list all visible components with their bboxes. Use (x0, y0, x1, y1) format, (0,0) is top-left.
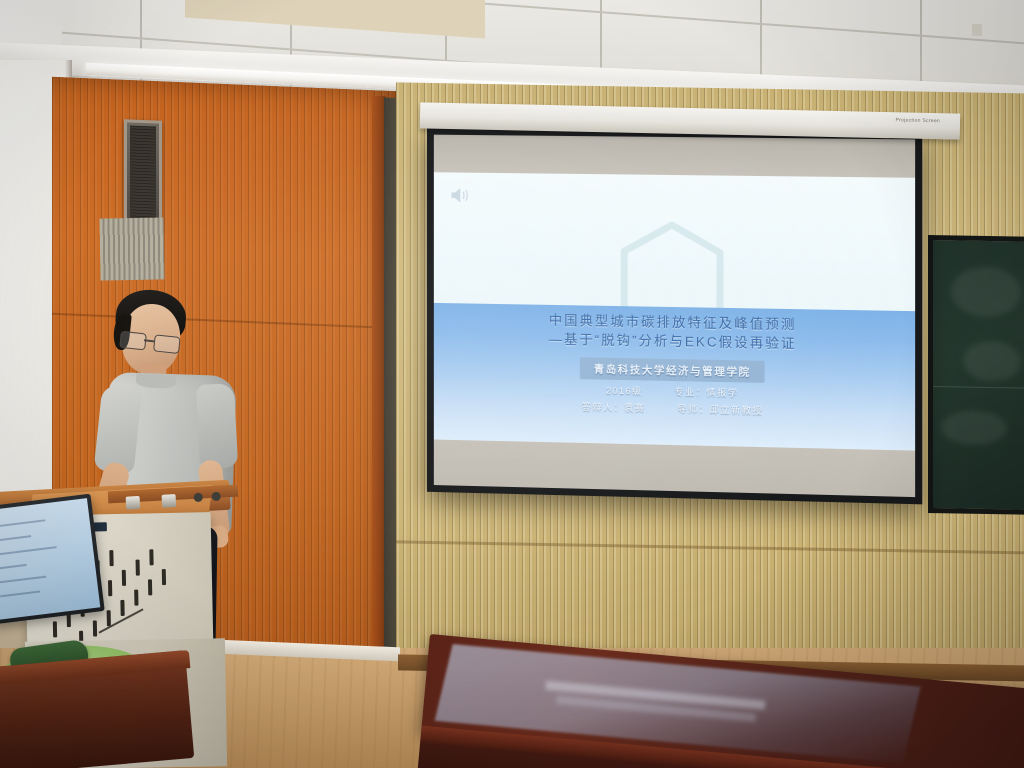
screen-mount-bracket (972, 24, 982, 36)
monitor-display[interactable] (0, 498, 100, 620)
screen-brand-label: Projection Screen (895, 117, 940, 124)
projection-screen: 中国典型城市碳排放特征及峰值预测 —基于“脱钩”分析与EKC假设再验证 青岛科技… (427, 128, 922, 505)
slide-school-name: 青岛科技大学经济与管理学院 (594, 363, 751, 378)
presentation-slide: 中国典型城市碳排放特征及峰值预测 —基于“脱钩”分析与EKC假设再验证 青岛科技… (434, 172, 915, 450)
slide-title-group: 中国典型城市碳排放特征及峰值预测 —基于“脱钩”分析与EKC假设再验证 (434, 309, 915, 356)
right-sleeve (196, 383, 238, 469)
podium-touchscreen-monitor[interactable] (0, 494, 105, 625)
speaker-audio-icon (450, 186, 472, 204)
green-chalkboard (928, 235, 1024, 515)
projection-screen-surface: 中国典型城市碳排放特征及峰值预测 —基于“脱钩”分析与EKC假设再验证 青岛科技… (434, 135, 915, 497)
classroom-scene: Projection Screen 中国典型城市碳排放特征及 (0, 0, 1024, 768)
slide-grade-year: 2016级 (606, 384, 642, 401)
slide-advisor: 导师：邱立新教授 (677, 402, 763, 421)
slide-school-banner: 青岛科技大学经济与管理学院 (580, 357, 765, 383)
slide-metadata: 2016级 专业：情报学 答辩人：袁赛 导师：邱立新教授 (434, 380, 915, 423)
slide-title-band: 中国典型城市碳排放特征及峰值预测 —基于“脱钩”分析与EKC假设再验证 青岛科技… (434, 303, 915, 451)
slide-presenter: 答辩人：袁赛 (582, 400, 646, 418)
slide-major: 专业：情报学 (674, 385, 738, 403)
screen-unlit-top-band (434, 135, 915, 178)
podium-bottom-vents (99, 217, 164, 280)
wall-mounted-speaker (124, 119, 162, 230)
